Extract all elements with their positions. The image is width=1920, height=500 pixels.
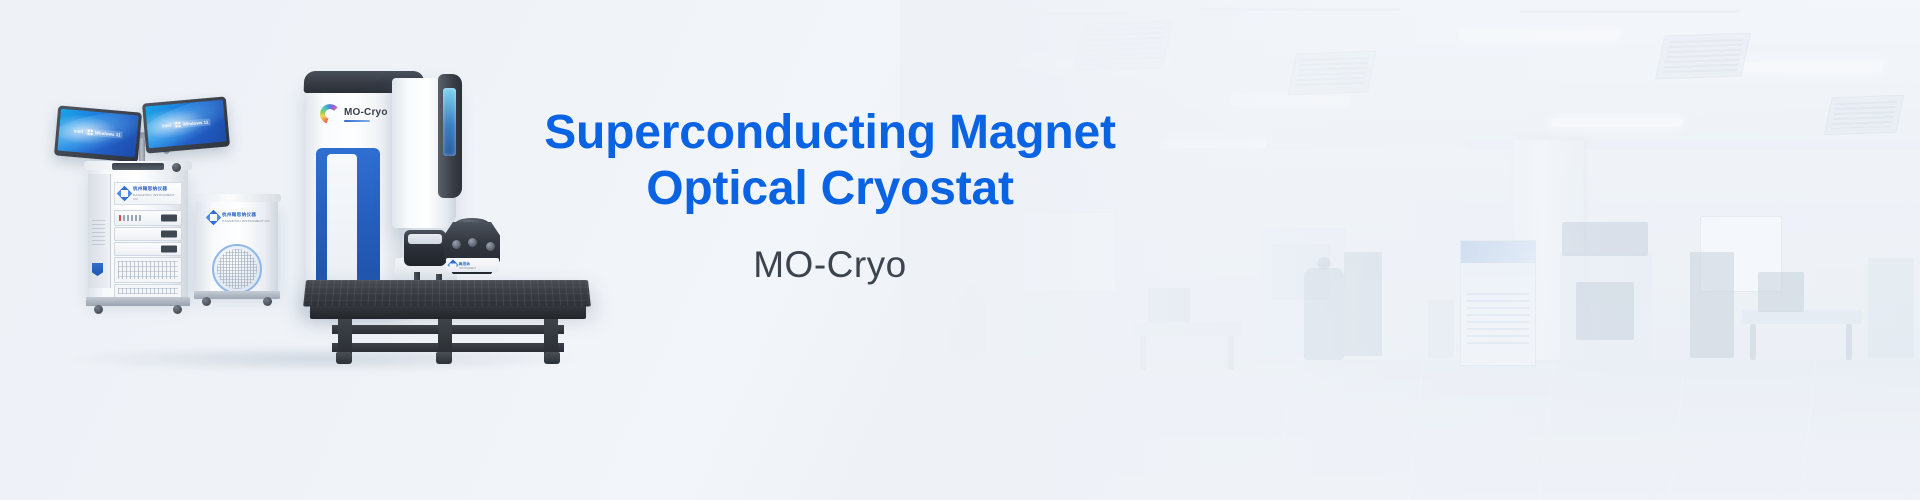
company-diamond-logo-icon [117,186,133,202]
frame-leg [338,319,352,355]
vent-grille [92,220,105,246]
brand-name-en: HANGZHOU INSTRUMENT CO. [222,219,271,223]
rack-brand-plate: 杭州翰思纳仪器 HANGZHOU INSTRUMENT CO. [114,182,182,205]
rainbow-burst-icon [320,104,340,124]
caster-wheel [94,305,103,314]
product-model-subtitle: MO-Cryo [520,244,1140,286]
hero-text-block: Superconducting Magnet Optical Cryostat … [520,105,1140,286]
rack-connector-panel [114,257,182,283]
caster-wheel [173,305,182,314]
monitor-right: intel Windows 11 [142,96,230,153]
windows-label: Windows 11 [95,130,121,137]
caster-wheel [263,297,272,306]
monitor-left-screen: intel Windows 11 [57,109,138,158]
objective-lens-assembly [404,230,446,266]
intel-logo: intel [73,128,83,135]
brand-name-en: HANGZHOU INSTRUMENT CO. [133,193,181,201]
brand-name-cn: 杭州翰思纳仪器 [222,212,271,218]
instrument-logo: MO-Cryo [320,104,388,124]
rack-unit [114,227,182,241]
page-title: Superconducting Magnet Optical Cryostat [520,105,1140,216]
unit-display [161,231,177,238]
control-electronics-rack: 杭州翰思纳仪器 HANGZHOU INSTRUMENT CO. [88,168,188,298]
unit-display [161,246,177,253]
table-foot [336,352,352,364]
windows-label: Windows 11 [182,120,208,127]
brand-name-cn: 杭州翰思纳仪器 [133,186,181,192]
table-foot [544,352,560,364]
optical-port [468,238,477,247]
product-hero-banner: intel Windows 11 intel Windows 11 [0,0,1920,500]
chiller-brand-plate: 杭州翰思纳仪器 HANGZHOU INSTRUMENT CO. [208,212,271,223]
caster-wheel [202,297,211,306]
windows-icon [176,122,181,127]
fan-grille [212,244,262,294]
company-diamond-logo-icon [206,210,222,226]
table-foot [436,352,452,364]
chiller-top-panel [193,194,281,202]
frame-leg [438,319,452,355]
unit-display [161,215,177,222]
optical-table-frame [332,319,564,355]
optical-port [486,242,495,251]
rack-connector-panel [114,284,182,298]
brand-name-cn: 翰思纳 [459,261,476,266]
power-knob [172,163,181,172]
arm-indicator-glass [443,88,456,156]
company-diamond-logo-icon [447,259,458,270]
monitor-right-screen: intel Windows 11 [145,100,226,149]
instrument-brand-name: MO-Cryo [344,107,388,118]
headline-line-1: Superconducting Magnet [544,106,1116,159]
rack-unit [114,210,182,226]
rack-unit [114,242,182,256]
cryostat-head-plate: 翰思纳 INSTRUMENT [446,258,499,272]
optical-port [452,240,461,249]
logo-underline [344,120,370,122]
intel-logo: intel [161,122,171,129]
headline-line-2: Optical Cryostat [520,161,1140,217]
brand-name-en: INSTRUMENT [459,267,476,270]
optical-table-edge [310,306,586,319]
compressor-chiller-unit: 杭州翰思纳仪器 HANGZHOU INSTRUMENT CO. [196,200,278,292]
monitor-left: intel Windows 11 [54,105,142,162]
windows-icon [88,130,93,135]
keyboard-tray [112,163,164,170]
frame-leg [544,319,558,355]
